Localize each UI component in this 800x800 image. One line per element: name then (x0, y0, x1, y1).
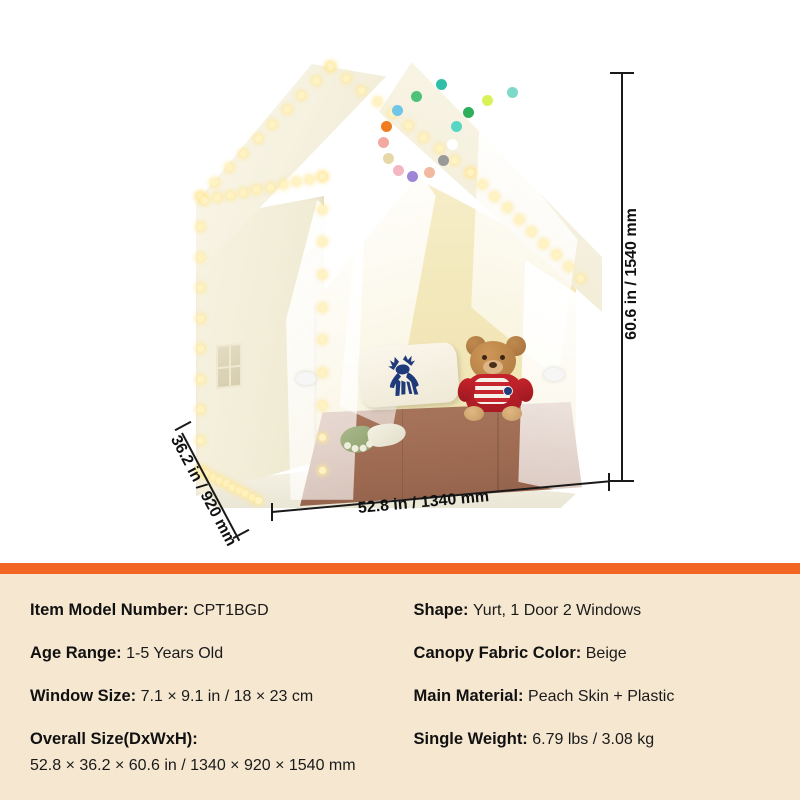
width-dimension-cap-right (608, 473, 610, 491)
fairy-light-bulb (284, 106, 291, 113)
spec-row-left-0: Item Model Number: CPT1BGD (30, 600, 414, 621)
spec-key: Window Size: (30, 687, 136, 705)
fairy-light-bulb (211, 179, 218, 186)
pom-pom (378, 137, 389, 148)
spec-column-right: Shape: Yurt, 1 Door 2 Windows Canopy Fab… (414, 600, 772, 798)
fairy-light-bulb (479, 181, 486, 188)
product-photo: 60.6 in / 1540 mm 52.8 in / 1340 mm 36.2… (0, 0, 800, 560)
pom-pom (463, 107, 474, 118)
fairy-light-bulb (374, 98, 381, 105)
deer-print-icon (373, 351, 434, 399)
pom-pom (411, 91, 422, 102)
fairy-light-bulb (306, 176, 313, 183)
fairy-light-bulb (227, 192, 234, 199)
spec-value-secondary: 52.8 × 36.2 × 60.6 in / 1340 × 920 × 154… (30, 756, 414, 776)
fairy-light-bulb (197, 376, 204, 383)
spec-row-right-2: Main Material: Peach Skin + Plastic (414, 686, 772, 707)
spec-row-right-1: Canopy Fabric Color: Beige (414, 643, 772, 664)
height-dimension-cap-top (610, 72, 634, 74)
spec-value: 7.1 × 9.1 in / 18 × 23 cm (141, 688, 314, 705)
fairy-light-bulb (280, 181, 287, 188)
fairy-light-bulb (516, 216, 523, 223)
fairy-light-bulb (343, 75, 350, 82)
bear-shirt-badge (503, 386, 513, 396)
orange-divider-bar (0, 563, 800, 574)
spec-row-left-1: Age Range: 1-5 Years Old (30, 643, 414, 664)
spec-key: Item Model Number: (30, 601, 189, 619)
bear-foot-right (502, 406, 522, 421)
pom-pom (392, 105, 403, 116)
fairy-light-bulb (319, 369, 326, 376)
fairy-light-bulb (577, 275, 584, 282)
fairy-light-bulb (565, 263, 572, 270)
height-dimension-cap-bottom (610, 480, 634, 482)
fairy-light-bulb (298, 92, 305, 99)
fairy-light-bulb (319, 173, 326, 180)
fairy-light-bulb (267, 184, 274, 191)
spec-value: CPT1BGD (193, 602, 269, 619)
bear-eye-right (500, 355, 505, 360)
spec-key: Shape: (414, 601, 469, 619)
spec-row-right-0: Shape: Yurt, 1 Door 2 Windows (414, 600, 772, 621)
bear-foot-left (464, 406, 484, 421)
spec-column-left: Item Model Number: CPT1BGD Age Range: 1-… (30, 600, 414, 798)
spec-value: Yurt, 1 Door 2 Windows (473, 602, 641, 619)
pom-pom (424, 167, 435, 178)
fairy-light-bulb (240, 150, 247, 157)
pom-pom (381, 121, 392, 132)
fairy-light-bulb (528, 228, 535, 235)
height-dimension-label: 60.6 in / 1540 mm (623, 208, 641, 340)
fairy-light-bulb (293, 178, 300, 185)
pom-pom (393, 165, 404, 176)
bear-nose (489, 362, 497, 368)
fairy-light-bulb (201, 197, 208, 204)
spec-value: Beige (586, 645, 627, 662)
depth-dimension-cap-top (175, 421, 192, 431)
fairy-light-bulb (553, 251, 560, 258)
fairy-light-bulb (319, 402, 326, 409)
spec-value: 6.79 lbs / 3.08 kg (532, 731, 654, 748)
fairy-light-bulb (226, 164, 233, 171)
pom-pom (447, 139, 458, 150)
fairy-light-bulb (319, 467, 326, 474)
spec-row-right-3: Single Weight: 6.79 lbs / 3.08 kg (414, 729, 772, 750)
fairy-light-bulb (269, 121, 276, 128)
fairy-light-bulb (255, 135, 262, 142)
fairy-light-bulb (420, 134, 427, 141)
fairy-light-bulb (540, 240, 547, 247)
fairy-light-bulb (504, 204, 511, 211)
deer-pillow (358, 342, 460, 409)
fairy-light-bulb (197, 315, 204, 322)
pom-pom (482, 95, 493, 106)
fairy-light-bulb (197, 437, 204, 444)
spec-key: Single Weight: (414, 730, 528, 748)
curtain-tieback-right (544, 368, 564, 381)
fairy-light-bulb (467, 169, 474, 176)
fairy-light-bulb (319, 206, 326, 213)
pom-pom (451, 121, 462, 132)
pom-pom (436, 79, 447, 90)
teddy-bear (458, 336, 534, 422)
fairy-light-bulb (319, 271, 326, 278)
tent-window (216, 343, 242, 390)
spec-key: Main Material: (414, 687, 524, 705)
spec-value: 1-5 Years Old (126, 645, 223, 662)
pom-pom (438, 155, 449, 166)
spec-row-left-3: Overall Size(DxWxH):52.8 × 36.2 × 60.6 i… (30, 729, 414, 776)
spec-key: Canopy Fabric Color: (414, 644, 582, 662)
pom-pom (383, 153, 394, 164)
curtain-tieback-left (296, 372, 316, 385)
pom-pom (407, 171, 418, 182)
fairy-light-bulb (358, 87, 365, 94)
spec-key: Age Range: (30, 644, 122, 662)
fairy-light-bulb (319, 304, 326, 311)
fairy-light-bulb (491, 193, 498, 200)
spec-key: Overall Size(DxWxH): (30, 730, 198, 748)
pom-pom (507, 87, 518, 98)
spec-row-left-2: Window Size: 7.1 × 9.1 in / 18 × 23 cm (30, 686, 414, 707)
fairy-light-bulb (313, 77, 320, 84)
fairy-light-bulb (197, 254, 204, 261)
fairy-light-bulb (405, 122, 412, 129)
spec-value: Peach Skin + Plastic (528, 688, 674, 705)
fairy-light-bulb (319, 238, 326, 245)
bear-eye-left (482, 355, 487, 360)
fairy-light-bulb (327, 63, 334, 70)
specification-panel: Item Model Number: CPT1BGD Age Range: 1-… (0, 574, 800, 800)
fairy-light-bulb (255, 497, 262, 504)
width-dimension-cap-left (271, 503, 273, 521)
